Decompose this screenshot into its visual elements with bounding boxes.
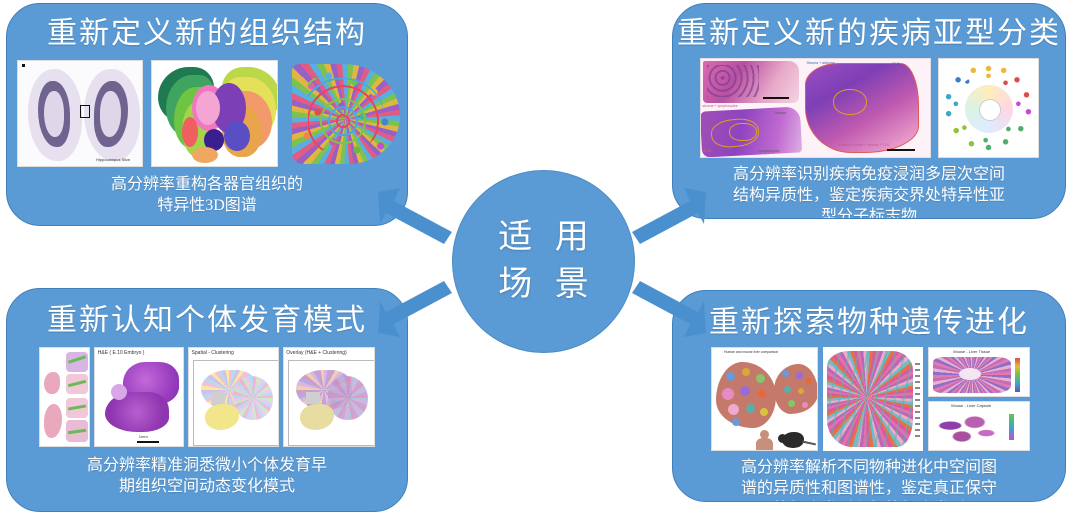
annotation-stroma: Stroma: [775, 111, 787, 115]
arrow-to-top-right: [630, 186, 708, 244]
figure-label: Spatial - Clustering: [192, 350, 234, 356]
panel-top-right-figures: Stroma + adipose stroma + lymphocytes St…: [673, 58, 1065, 158]
caption-line-3: 型分子标志物: [673, 206, 1065, 219]
figure-liver-tissue-heatmap: Mouse - Liver Tissue: [928, 347, 1030, 397]
panel-top-right-title: 重新定义新的疾病亚型分类: [673, 8, 1065, 52]
panel-top-left-figures: Hippocampus Slice: [7, 60, 407, 167]
annotation-dcis: DCIS: [703, 149, 712, 153]
figure-label: Human and mouse liver comparison: [724, 350, 778, 354]
figure-label: Overlay (H&E + Clustering): [286, 350, 346, 356]
figure-tumor-histology-annotated: Stroma + adipose stroma + lymphocytes St…: [700, 58, 931, 158]
panel-bottom-left[interactable]: 重新认知个体发育模式: [6, 288, 408, 512]
figure-he-stained-coronal-section: Hippocampus Slice: [17, 60, 143, 167]
caption-line-2: 谱的异质性和图谱性，鉴定真正保守: [673, 478, 1065, 499]
caption-line-2: 期组织空间动态变化模式: [7, 476, 407, 497]
annotation-lymphocytes: Lymphocytes: [759, 149, 780, 153]
caption-line-1: 高分辨率识别疾病免疫浸润多层次空间: [673, 164, 1065, 185]
hub-line-1: 适 用: [491, 215, 596, 262]
panel-top-left-caption: 高分辨率重构各器官组织的 特异性3D图谱: [7, 174, 407, 216]
figure-he-embryo-section: H&E ( E.10 Embryo ) 1mm: [94, 347, 184, 447]
figure-label: Hippocampus Slice: [96, 157, 130, 162]
panel-top-right-caption: 高分辨率识别疾病免疫浸润多层次空间 结构异质性，鉴定疾病交界处特异性亚 型分子标…: [673, 164, 1065, 219]
panel-bottom-right-caption: 高分辨率解析不同物种进化中空间图 谱的异质性和图谱性，鉴定真正保守 的细胞类型和…: [673, 457, 1065, 502]
figure-label: Mouse - Liver Tissue: [953, 349, 990, 354]
caption-line-1: 高分辨率解析不同物种进化中空间图: [673, 457, 1065, 478]
panel-bottom-left-figures: H&E ( E.10 Embryo ) 1mm Spatial - Cluste…: [7, 347, 407, 447]
figure-liver-comparative-schematic: Human and mouse liver comparison: [711, 347, 818, 451]
hub-line-2: 场 景: [491, 262, 596, 309]
panel-top-left-title: 重新定义新的组织结构: [7, 8, 407, 52]
infographic-canvas: 重新定义新的组织结构 Hippocampus Slice: [0, 0, 1080, 515]
center-hub[interactable]: 适 用 场 景: [452, 170, 635, 353]
figure-spatial-cluster-speckle-map: [286, 60, 397, 167]
figure-scalebar-label: 1mm: [139, 434, 148, 439]
figure-overlay-map: Overlay (H&E + Clustering): [283, 347, 375, 447]
caption-line-2: 结构异质性，鉴定疾病交界处特异性亚: [673, 185, 1065, 206]
center-hub-label: 适 用 场 景: [491, 215, 596, 309]
caption-line-1: 高分辨率重构各器官组织的: [7, 174, 407, 195]
panel-bottom-left-caption: 高分辨率精准洞悉微小个体发育早 期组织空间动态变化模式: [7, 455, 407, 497]
figure-spatial-clustering-map: Spatial - Clustering: [188, 347, 280, 447]
panel-bottom-left-title: 重新认知个体发育模式: [7, 295, 407, 339]
figure-liver-spatial-cluster-map: [823, 347, 924, 451]
figure-liver-heatmap-stack: Mouse - Liver Tissue Mouse - Liver Capsu…: [928, 347, 1027, 451]
arrow-to-bottom-right: [630, 281, 708, 339]
caption-line-2: 特异性3D图谱: [7, 195, 407, 216]
panel-top-left[interactable]: 重新定义新的组织结构 Hippocampus Slice: [6, 3, 408, 226]
annotation-tls: TLS: [893, 62, 900, 66]
annotation-stroma-adipose: Stroma + adipose: [807, 61, 835, 65]
annotation-stroma-lymphocytes: stroma + lymphocytes: [703, 104, 738, 108]
figure-liver-capsule-heatmap: Mouse - Liver Capsule: [928, 401, 1030, 451]
figure-embryo-schematic-panel: [39, 347, 90, 447]
arrow-to-bottom-left: [376, 281, 454, 339]
caption-line-1: 高分辨率精准洞悉微小个体发育早: [7, 455, 407, 476]
panel-bottom-right[interactable]: 重新探索物种遗传进化 Human and mouse liver compari…: [672, 290, 1066, 502]
panel-bottom-right-figures: Human and mouse liver comparison: [673, 347, 1065, 451]
figure-label: Mouse - Liver Capsule: [951, 403, 991, 408]
figure-circular-phylogeny-diagram: [938, 58, 1039, 158]
annotation-invasive-cancer: Invasive cancer + stroma + TLS: [839, 143, 890, 147]
arrow-to-top-left: [376, 186, 454, 244]
figure-brain-region-atlas: [151, 60, 277, 167]
figure-label: H&E ( E.10 Embryo ): [98, 350, 145, 356]
panel-top-right[interactable]: 重新定义新的疾病亚型分类 Stro: [672, 3, 1066, 219]
panel-bottom-right-title: 重新探索物种遗传进化: [673, 297, 1065, 341]
caption-line-3: 的细胞类型和新的细胞类型: [673, 499, 1065, 502]
